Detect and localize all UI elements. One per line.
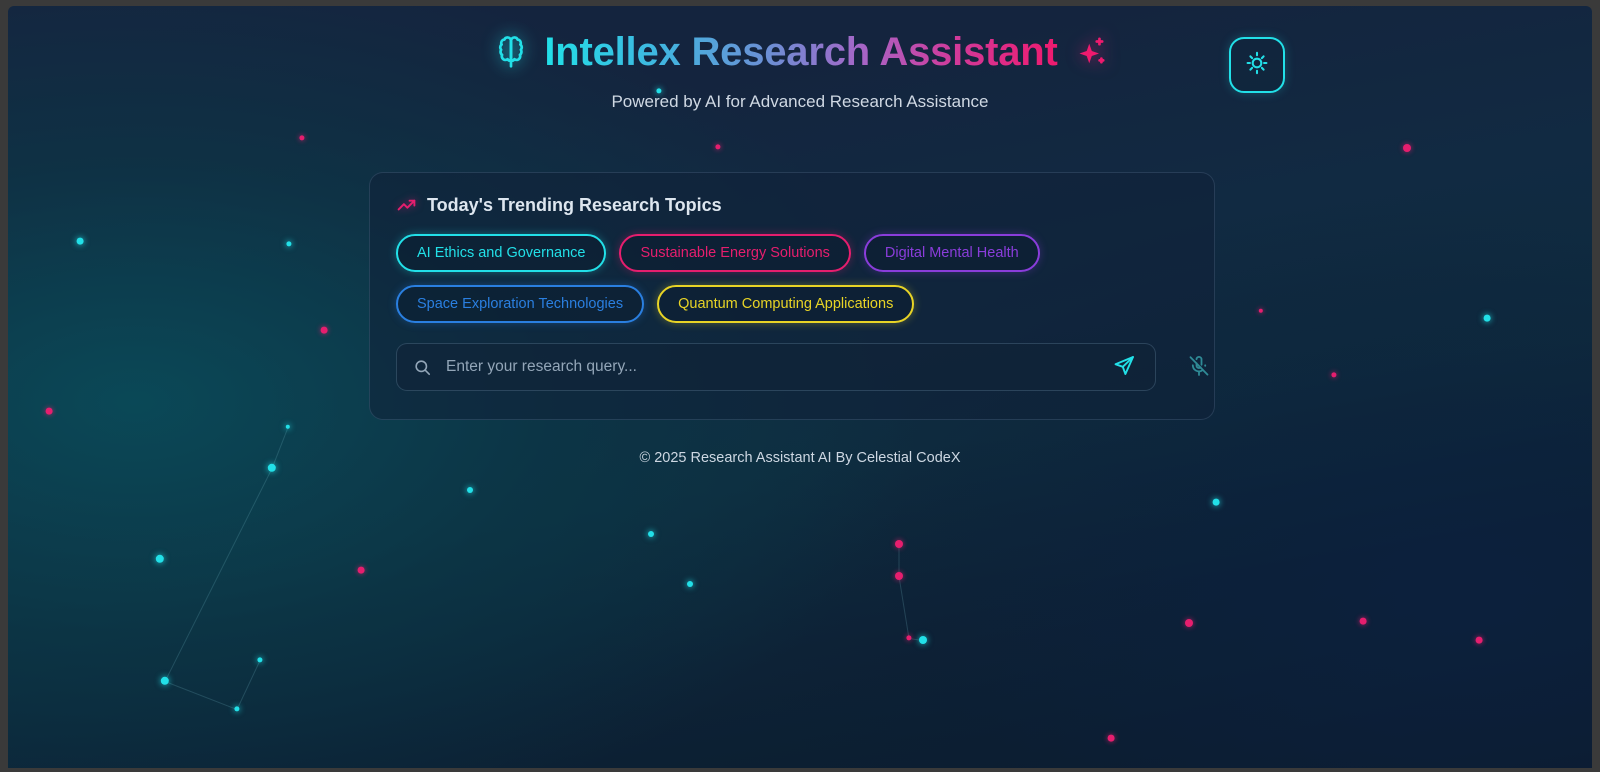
trending-topics-card: Today's Trending Research Topics AI Ethi… [369,172,1215,420]
microphone-muted-icon [1187,354,1211,381]
star-particle [1185,619,1193,627]
search-icon [413,358,432,377]
star-particle [895,540,903,548]
star-particle [715,144,720,149]
footer-text: © 2025 Research Assistant AI By Celestia… [8,450,1592,466]
page-title: Intellex Research Assistant [544,32,1057,72]
topic-chip-list: AI Ethics and GovernanceSustainable Ener… [396,234,1188,323]
topic-chip[interactable]: Quantum Computing Applications [657,285,914,323]
star-particle [1360,618,1367,625]
page-header: Intellex Research Assistant Powered by A… [8,6,1592,112]
star-particle [299,135,304,140]
star-link [899,545,900,577]
star-particle [906,635,911,640]
star-particle [919,636,927,644]
star-particle [1476,637,1483,644]
topic-chip[interactable]: AI Ethics and Governance [396,234,606,272]
star-particle [687,581,693,587]
star-particle [895,572,903,580]
search-input[interactable] [446,358,1107,376]
star-particle [161,677,169,685]
star-particle [648,531,654,537]
topic-chip[interactable]: Sustainable Energy Solutions [619,234,850,272]
topic-chip[interactable]: Space Exploration Technologies [396,285,644,323]
send-button[interactable] [1107,350,1141,384]
star-particle [1484,315,1491,322]
theme-toggle-button[interactable] [1229,37,1285,93]
star-particle [1259,309,1263,313]
star-particle [321,327,328,334]
star-particle [1213,499,1220,506]
title-row: Intellex Research Assistant [492,32,1107,72]
search-row [396,343,1188,391]
topic-chip[interactable]: Digital Mental Health [864,234,1040,272]
star-link [237,660,261,709]
star-particle [358,567,365,574]
star-particle [1403,144,1411,152]
page-subtitle: Powered by AI for Advanced Research Assi… [8,92,1592,112]
star-particle [286,425,290,429]
microphone-button[interactable] [1180,343,1218,391]
trending-up-icon [396,195,417,216]
star-particle [467,487,473,493]
star-link [165,468,273,681]
brain-icon [492,33,530,71]
card-header: Today's Trending Research Topics [396,195,1188,216]
star-particle [46,408,53,415]
star-link [165,681,237,710]
star-particle [1331,372,1336,377]
page-viewport: Intellex Research Assistant Powered by A… [8,6,1592,768]
star-particle [286,241,291,246]
browser-frame: Intellex Research Assistant Powered by A… [0,0,1600,772]
star-link [899,576,910,638]
star-particle [257,657,262,662]
search-bar[interactable] [396,343,1156,391]
star-particle [156,555,164,563]
star-particle [77,238,84,245]
star-particle [1108,735,1115,742]
sparkle-icon [1072,34,1108,70]
card-title: Today's Trending Research Topics [427,195,722,216]
send-icon [1112,354,1136,381]
star-particle [234,706,239,711]
star-link [909,638,923,641]
sun-icon [1244,50,1270,81]
